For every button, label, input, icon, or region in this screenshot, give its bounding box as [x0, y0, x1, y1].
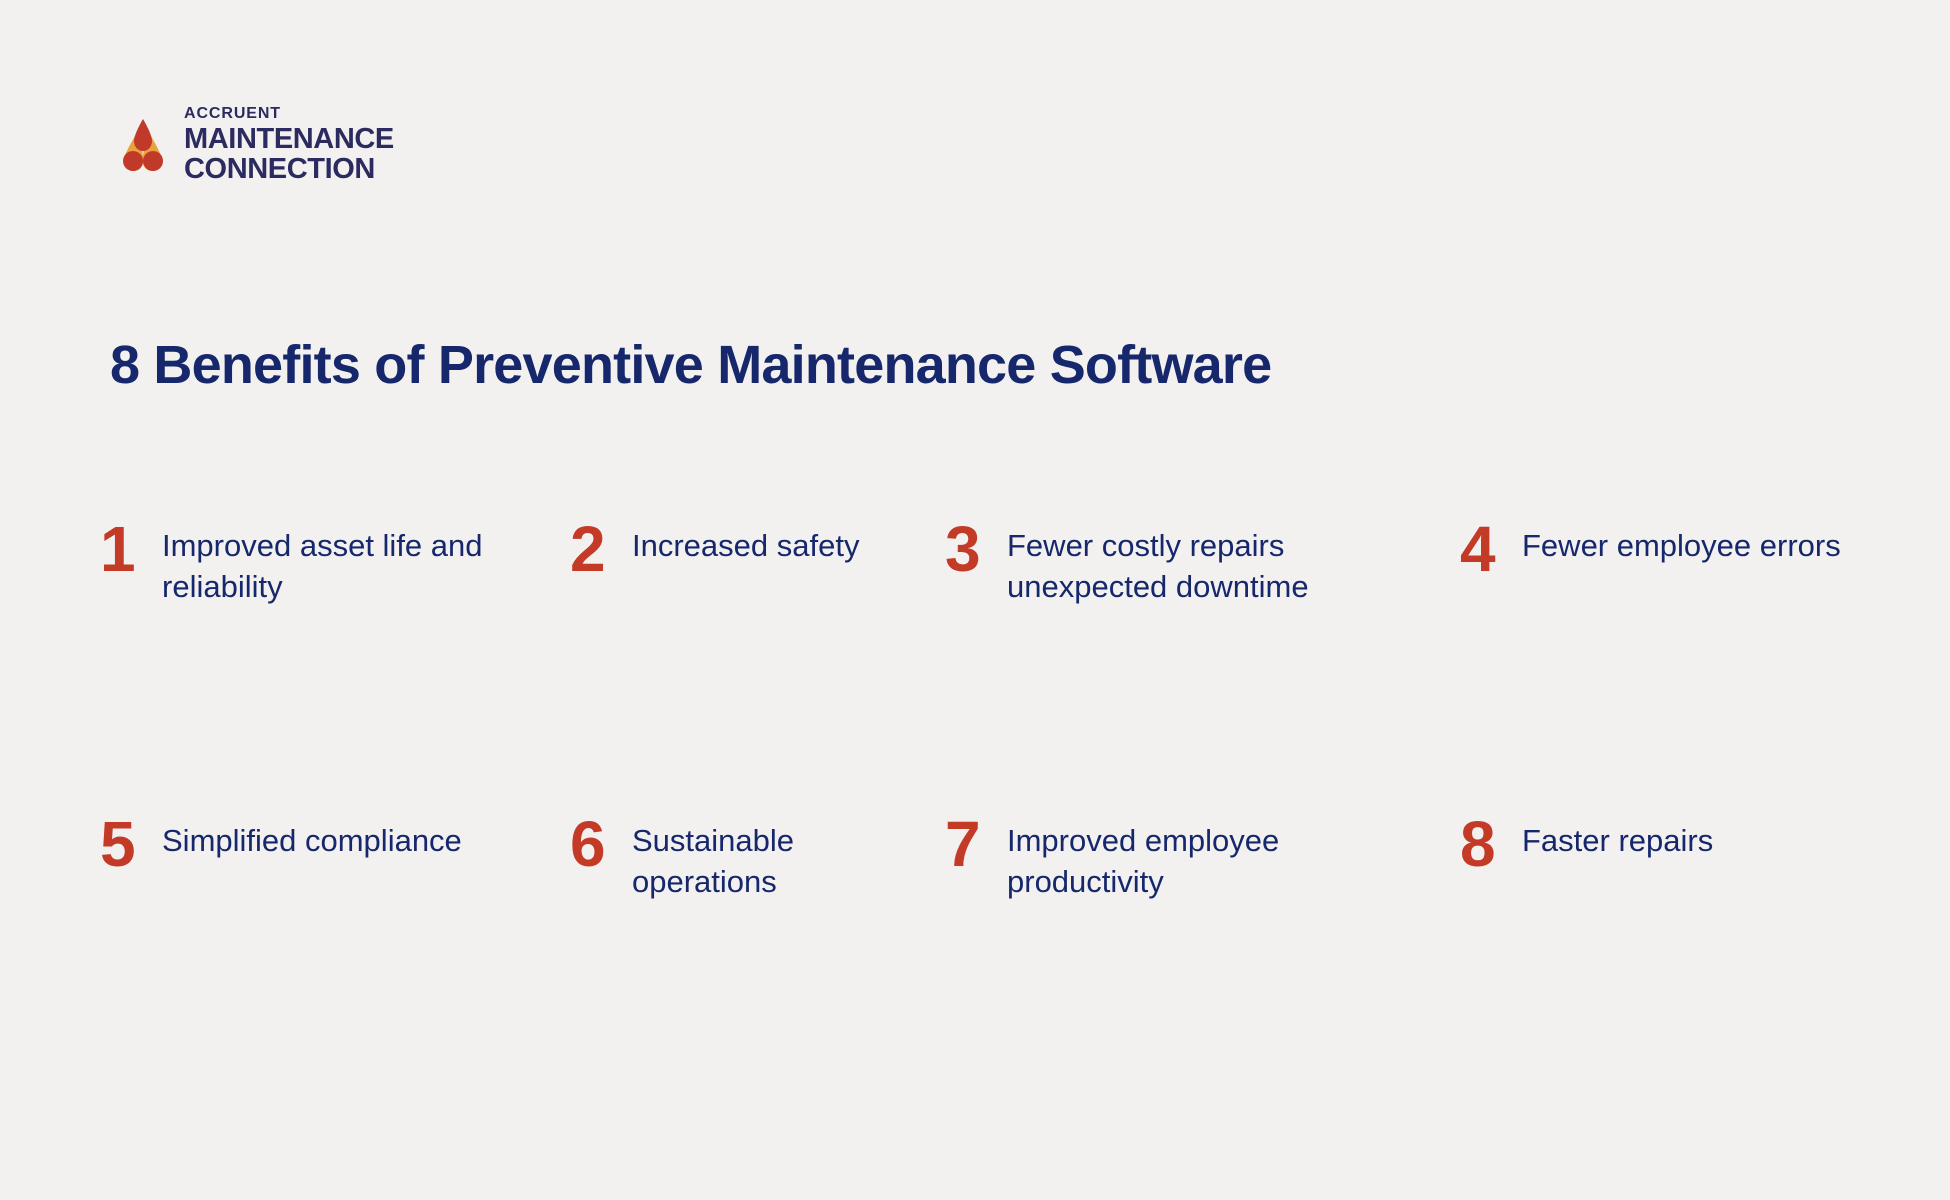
benefit-item-8: 8 Faster repairs [1460, 815, 1890, 874]
brand-name-line-2: CONNECTION [184, 155, 394, 185]
brand-wordmark: ACCRUENT MAINTENANCE CONNECTION [184, 106, 394, 184]
benefit-number-7: 7 [945, 815, 987, 874]
benefits-row-top: 1 Improved asset life and reliability 2 … [100, 520, 1890, 608]
benefit-number-5: 5 [100, 815, 142, 874]
infographic-page: ACCRUENT MAINTENANCE CONNECTION 8 Benefi… [0, 0, 1950, 1200]
benefits-row-bottom: 5 Simplified compliance 6 Sustainable op… [100, 815, 1890, 903]
benefit-item-2: 2 Increased safety [570, 520, 945, 579]
benefit-label-5: Simplified compliance [162, 815, 462, 862]
benefit-number-6: 6 [570, 815, 612, 874]
benefit-label-1: Improved asset life and reliability [162, 520, 492, 608]
benefit-number-1: 1 [100, 520, 142, 579]
benefit-number-4: 4 [1460, 520, 1502, 579]
benefit-item-6: 6 Sustainable operations [570, 815, 945, 903]
brand-name-line-1: MAINTENANCE [184, 125, 394, 155]
benefit-label-7: Improved employee productivity [1007, 815, 1387, 903]
benefit-number-3: 3 [945, 520, 987, 579]
page-title: 8 Benefits of Preventive Maintenance Sof… [110, 334, 1271, 396]
benefit-number-8: 8 [1460, 815, 1502, 874]
benefit-label-8: Faster repairs [1522, 815, 1713, 862]
benefit-item-3: 3 Fewer costly repairs unexpected downti… [945, 520, 1460, 608]
brand-name: MAINTENANCE CONNECTION [184, 125, 394, 184]
benefit-item-7: 7 Improved employee productivity [945, 815, 1460, 903]
benefits-grid: 1 Improved asset life and reliability 2 … [100, 520, 1890, 903]
benefit-item-4: 4 Fewer employee errors [1460, 520, 1890, 579]
brand-logo: ACCRUENT MAINTENANCE CONNECTION [116, 106, 394, 184]
accruent-m-mark-icon [116, 116, 170, 174]
benefit-item-5: 5 Simplified compliance [100, 815, 570, 874]
benefit-label-3: Fewer costly repairs unexpected downtime [1007, 520, 1387, 608]
brand-eyebrow: ACCRUENT [184, 106, 394, 122]
benefit-label-6: Sustainable operations [632, 815, 927, 903]
benefit-label-4: Fewer employee errors [1522, 520, 1841, 567]
benefit-item-1: 1 Improved asset life and reliability [100, 520, 570, 608]
benefit-label-2: Increased safety [632, 520, 859, 567]
benefit-number-2: 2 [570, 520, 612, 579]
